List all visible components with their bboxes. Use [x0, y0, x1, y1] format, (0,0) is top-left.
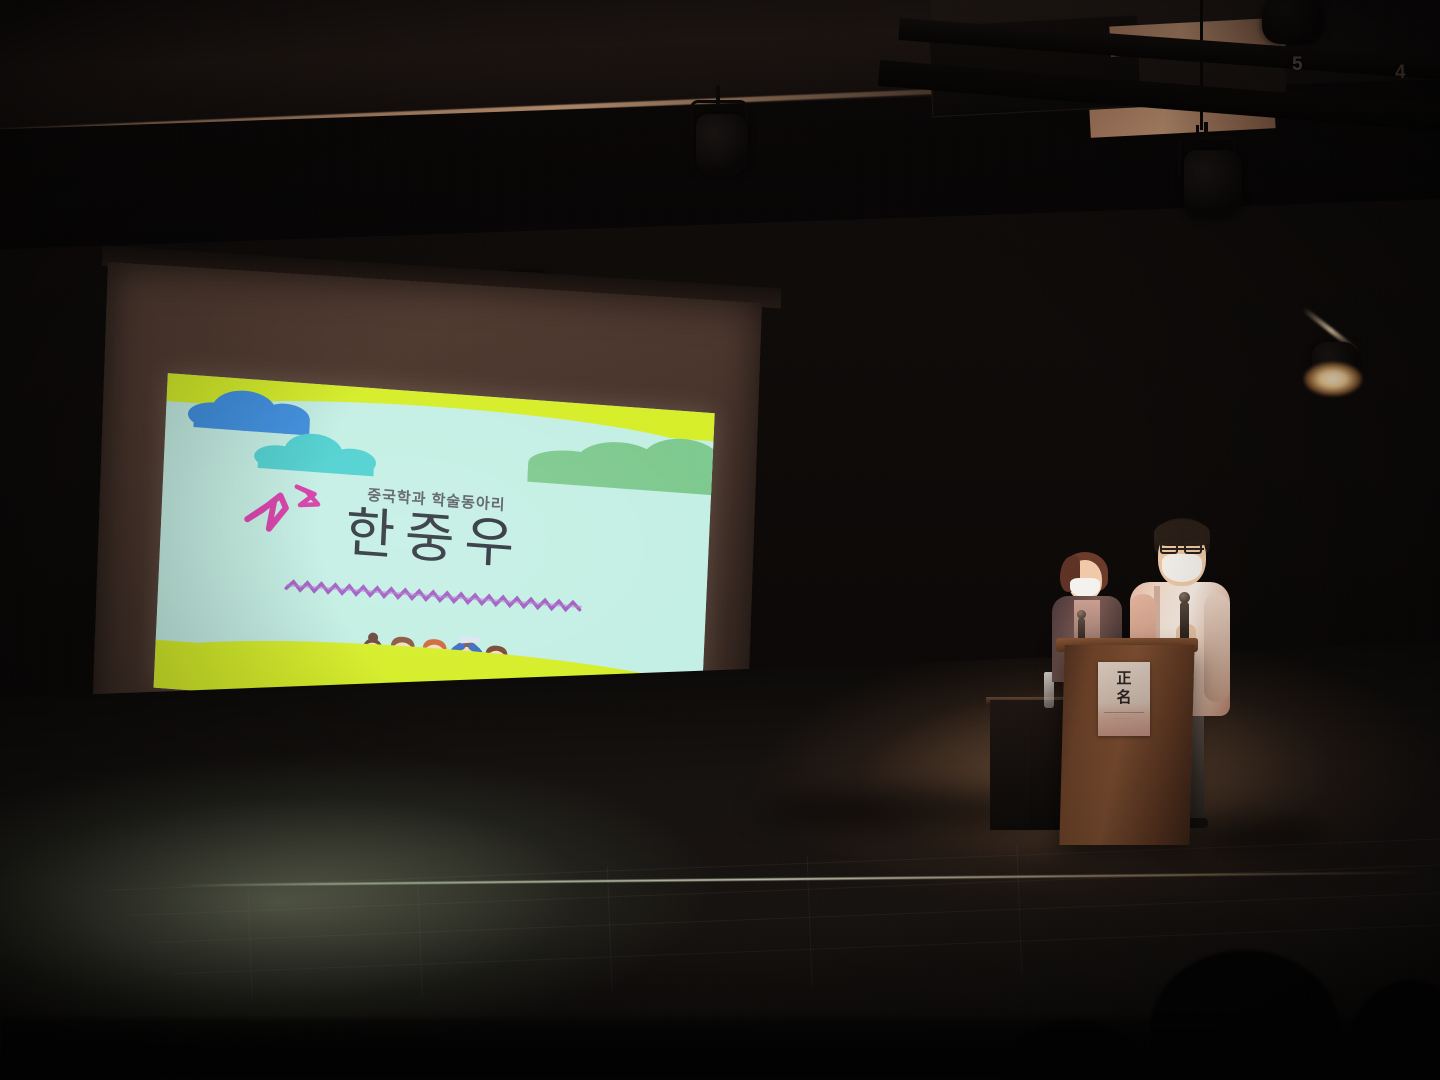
podium-sign-subtext: ············ — [1114, 716, 1135, 721]
face-mask — [1070, 578, 1100, 597]
truss-label-5: 5 — [1292, 54, 1304, 76]
cloud-blue-icon — [188, 385, 317, 432]
podium-sign: 正 名 ············ — [1098, 662, 1150, 736]
microphone — [1180, 602, 1189, 640]
microphone-head — [1179, 592, 1190, 603]
light-body-icon — [1262, 0, 1324, 44]
light-glow-icon — [1304, 362, 1362, 396]
microphone-head — [1077, 610, 1086, 619]
glasses-lens-left — [1160, 542, 1178, 554]
light-body-icon — [1184, 150, 1242, 218]
face-mask — [1162, 554, 1202, 582]
stage-scene: 5 4 — [0, 0, 1440, 1080]
podium-sign-rule — [1104, 712, 1144, 713]
arm-right — [1204, 594, 1230, 702]
podium-sign-char-1: 正 — [1116, 670, 1131, 689]
light-body-icon — [696, 114, 748, 176]
side-table — [990, 700, 1070, 830]
glasses-lens-right — [1184, 542, 1202, 554]
podium-sign-char-2: 名 — [1116, 689, 1131, 708]
audience-foreground-bar — [0, 1018, 1440, 1080]
truss-label-4: 4 — [1395, 62, 1407, 84]
